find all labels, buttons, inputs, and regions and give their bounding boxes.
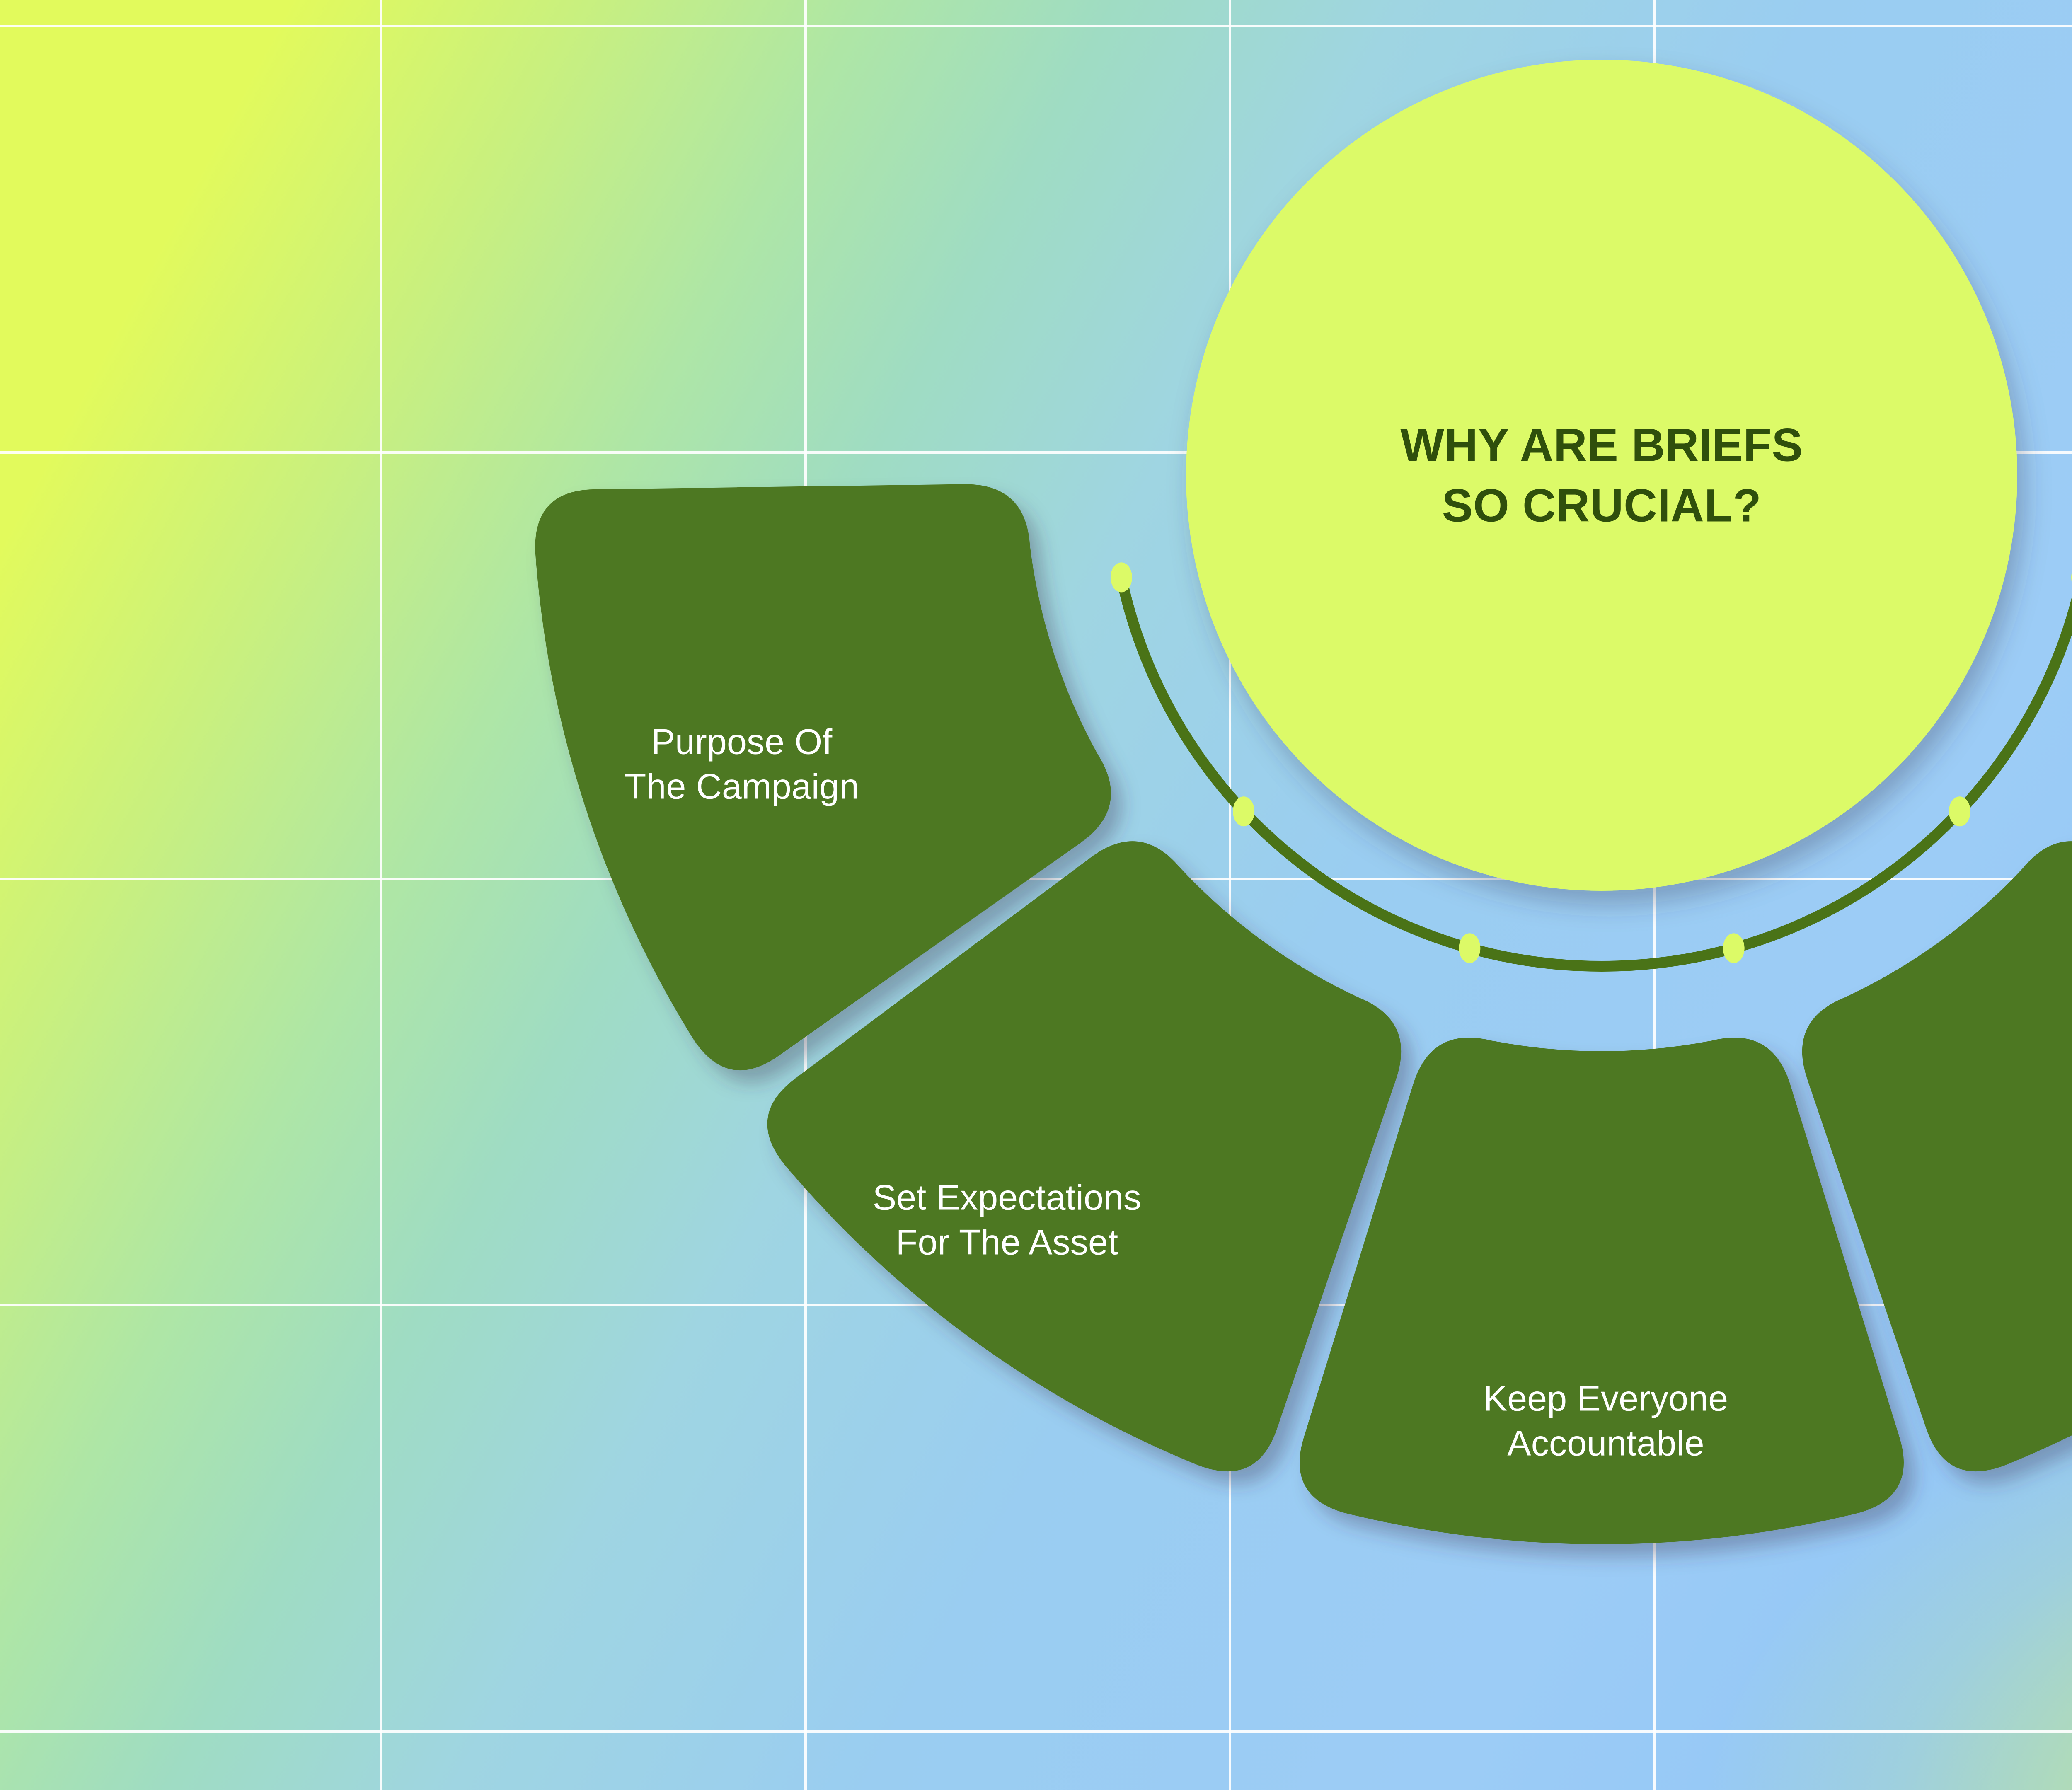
center-circle [1186,60,2017,891]
arc-node-dot [1459,933,1480,963]
radial-fan-diagram [0,0,2072,1790]
arc-node-dot [1233,796,1254,826]
arc-node-dot [1723,933,1745,963]
petal-keep-everyone-accountable[interactable] [1300,1038,1904,1544]
arc-node-dot [1949,796,1970,826]
arc-node-dot [1111,562,1132,592]
diagram-canvas: WHY ARE BRIEFS SO CRUCIAL? Purpose Of Th… [0,0,2072,1790]
